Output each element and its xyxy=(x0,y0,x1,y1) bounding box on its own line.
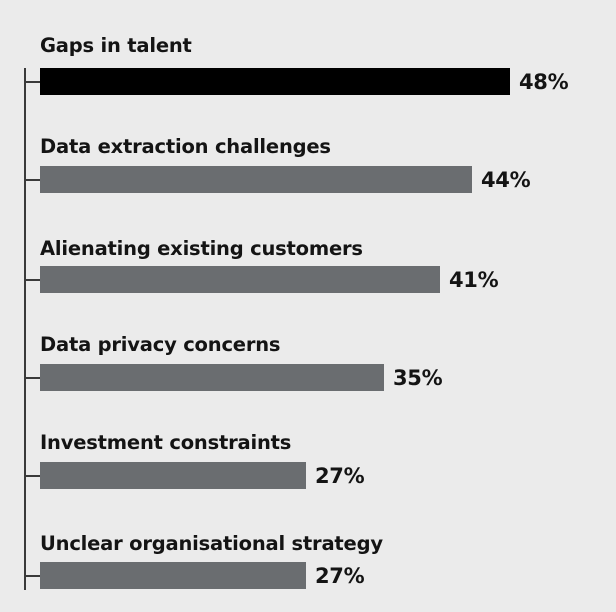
bar-track xyxy=(40,266,440,293)
bar-track xyxy=(40,166,472,193)
bar-rect[interactable] xyxy=(40,68,510,95)
bar-category-label: Investment constraints xyxy=(40,431,291,454)
axis-tick xyxy=(24,377,40,379)
category-axis-line xyxy=(24,68,26,590)
bar-rect[interactable] xyxy=(40,266,440,293)
bar-category-label: Data extraction challenges xyxy=(40,135,331,158)
axis-tick xyxy=(24,279,40,281)
axis-tick xyxy=(24,475,40,477)
bar-chart: Gaps in talent48%Data extraction challen… xyxy=(0,0,616,612)
bar-rect[interactable] xyxy=(40,562,306,589)
bar-value-label: 27% xyxy=(315,564,364,588)
bar-value-label: 27% xyxy=(315,464,364,488)
bar-category-label: Data privacy concerns xyxy=(40,333,280,356)
bar-track xyxy=(40,364,384,391)
axis-tick xyxy=(24,81,40,83)
bar-rect[interactable] xyxy=(40,364,384,391)
bar-track xyxy=(40,462,306,489)
bar-rect[interactable] xyxy=(40,462,306,489)
bar-category-label: Unclear organisational strategy xyxy=(40,532,383,555)
bar-category-label: Gaps in talent xyxy=(40,34,192,57)
bar-rect[interactable] xyxy=(40,166,472,193)
bar-value-label: 48% xyxy=(519,70,568,94)
bar-track xyxy=(40,68,510,95)
bar-value-label: 35% xyxy=(393,366,442,390)
bar-value-label: 41% xyxy=(449,268,498,292)
bar-track xyxy=(40,562,306,589)
bar-value-label: 44% xyxy=(481,168,530,192)
axis-tick xyxy=(24,179,40,181)
bar-category-label: Alienating existing customers xyxy=(40,237,363,260)
axis-tick xyxy=(24,575,40,577)
